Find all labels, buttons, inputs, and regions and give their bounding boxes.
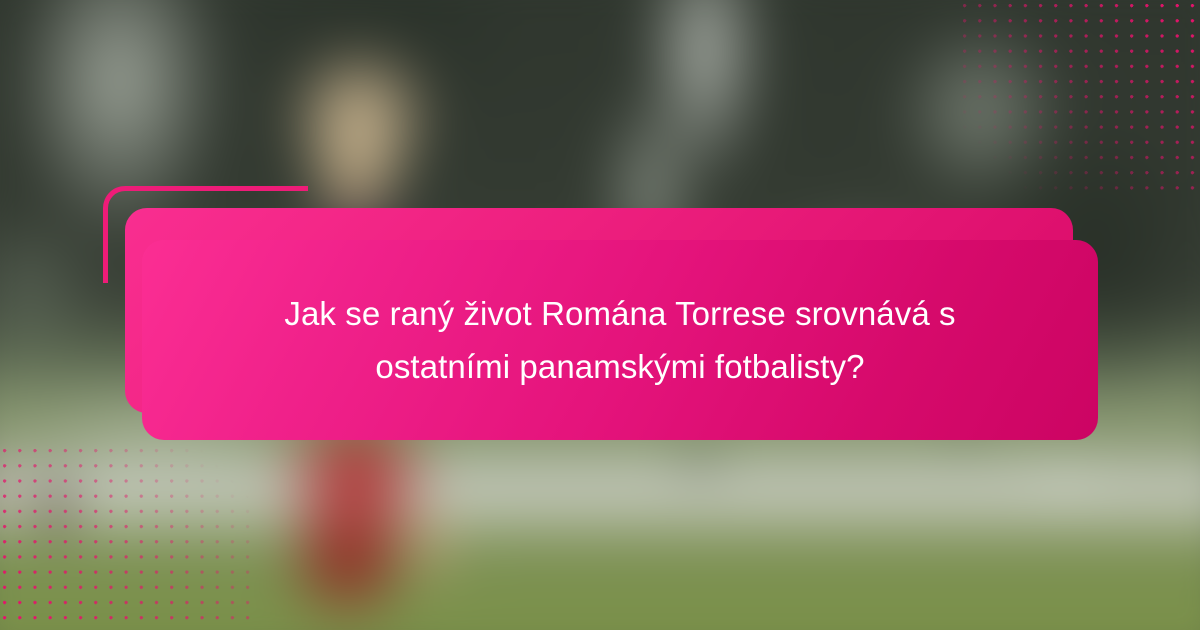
halftone-dots-bottom-left [0,445,250,630]
halftone-dot-grid [0,445,250,630]
halftone-dots-top-right [960,0,1200,190]
headline-text: Jak se raný život Romána Torrese srovnáv… [174,287,1066,393]
share-card-canvas: Jak se raný život Romána Torrese srovnáv… [0,0,1200,630]
halftone-dot-grid [960,0,1200,190]
headline-card: Jak se raný život Romána Torrese srovnáv… [142,240,1098,440]
